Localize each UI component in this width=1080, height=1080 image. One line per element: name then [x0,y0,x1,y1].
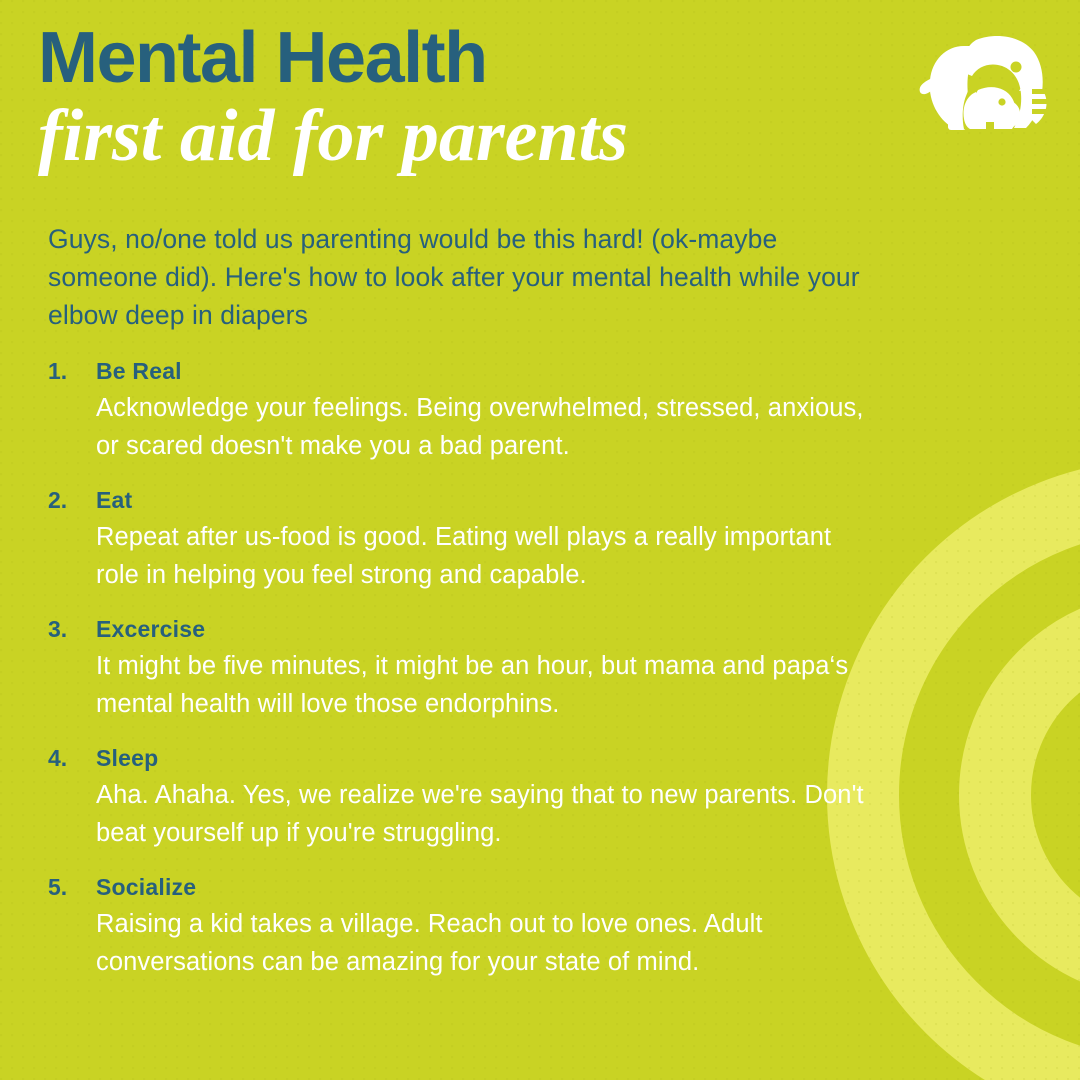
list-item-number: 5. [48,874,96,901]
list-item-header: 2. Eat [48,487,878,514]
list-item-title: Be Real [96,358,182,385]
list-item-header: 4. Sleep [48,745,878,772]
list-item-number: 1. [48,358,96,385]
list-item-number: 2. [48,487,96,514]
elephant-and-calf-logo [918,26,1058,146]
list-item-body: Aha. Ahaha. Yes, we realize we're saying… [96,776,878,852]
list-item-body: Acknowledge your feelings. Being overwhe… [96,389,878,465]
list-item-body: Repeat after us-food is good. Eating wel… [96,518,878,594]
list-item-number: 3. [48,616,96,643]
list-item: 5. Socialize Raising a kid takes a villa… [48,874,878,981]
list-item-header: 5. Socialize [48,874,878,901]
title-line-2: first aid for parents [38,99,738,173]
list-item: 1. Be Real Acknowledge your feelings. Be… [48,358,878,465]
list-item-header: 1. Be Real [48,358,878,385]
list-item: 4. Sleep Aha. Ahaha. Yes, we realize we'… [48,745,878,852]
list-item: 3. Excercise It might be five minutes, i… [48,616,878,723]
poster-canvas: Mental Health first aid for parents [0,0,1080,1080]
list-item-body: It might be five minutes, it might be an… [96,647,878,723]
intro-paragraph: Guys, no/one told us parenting would be … [48,220,878,334]
list-item-body: Raising a kid takes a village. Reach out… [96,905,878,981]
list-item-title: Socialize [96,874,196,901]
list-item-title: Excercise [96,616,205,643]
list-item-title: Eat [96,487,132,514]
tips-list: 1. Be Real Acknowledge your feelings. Be… [48,358,878,981]
list-item-title: Sleep [96,745,158,772]
page-title: Mental Health first aid for parents [38,24,738,173]
list-item-number: 4. [48,745,96,772]
list-item: 2. Eat Repeat after us-food is good. Eat… [48,487,878,594]
title-line-1: Mental Health [38,24,738,93]
list-item-header: 3. Excercise [48,616,878,643]
